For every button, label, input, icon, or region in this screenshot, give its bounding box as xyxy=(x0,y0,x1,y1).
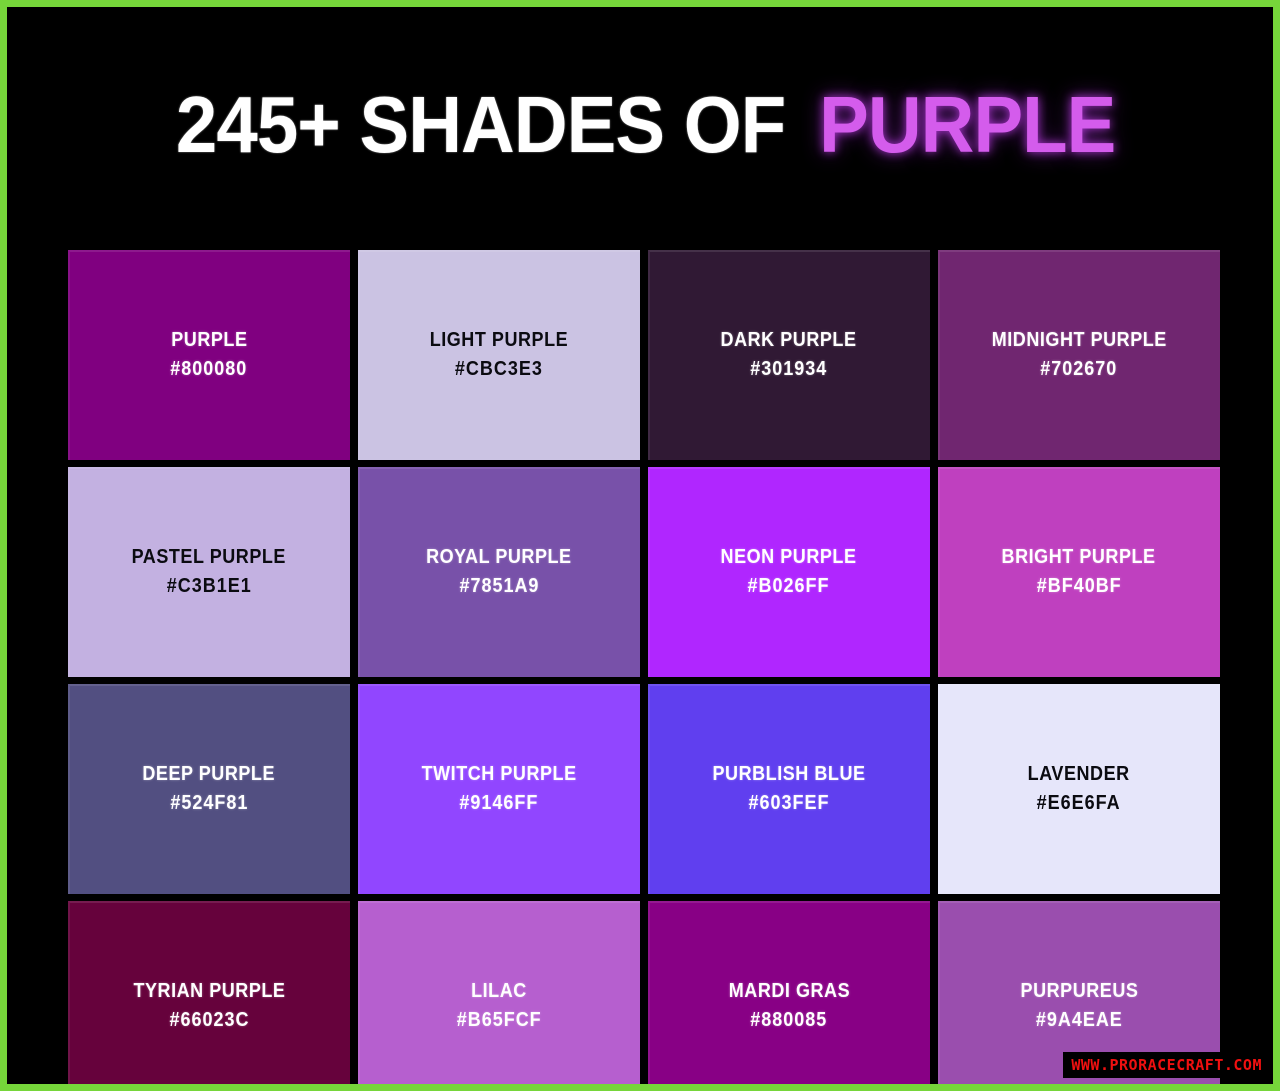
watermark: WWW.PRORACECRAFT.COM xyxy=(1063,1052,1268,1078)
poster-canvas: 245+ SHADES OF PURPLE PURPLE#800080LIGHT… xyxy=(7,7,1273,1084)
swatch-name: DEEP PURPLE xyxy=(143,760,276,789)
swatch-hex-code: #BF40BF xyxy=(1037,572,1122,601)
swatch-name: PURPUREUS xyxy=(1020,977,1138,1006)
page-title: 245+ SHADES OF PURPLE xyxy=(7,73,1273,183)
color-swatch[interactable]: TYRIAN PURPLE#66023C xyxy=(68,901,350,1084)
color-swatch[interactable]: PASTEL PURPLE#C3B1E1 xyxy=(68,467,350,677)
color-swatch[interactable]: NEON PURPLE#B026FF xyxy=(648,467,930,677)
swatch-name: ROYAL PURPLE xyxy=(426,543,572,572)
color-swatch[interactable]: TWITCH PURPLE#9146FF xyxy=(358,684,640,894)
color-swatch[interactable]: MARDI GRAS#880085 xyxy=(648,901,930,1084)
swatch-hex-code: #B026FF xyxy=(748,572,830,601)
color-swatch[interactable]: DEEP PURPLE#524F81 xyxy=(68,684,350,894)
swatch-name: LIGHT PURPLE xyxy=(430,326,568,355)
swatch-name: TWITCH PURPLE xyxy=(421,760,576,789)
color-swatch[interactable]: LILAC#B65FCF xyxy=(358,901,640,1084)
color-swatch[interactable]: BRIGHT PURPLE#BF40BF xyxy=(938,467,1220,677)
color-swatch[interactable]: PURPLE#800080 xyxy=(68,250,350,460)
swatch-hex-code: #301934 xyxy=(750,355,827,384)
swatch-hex-code: #E6E6FA xyxy=(1037,789,1121,818)
swatch-hex-code: #702670 xyxy=(1040,355,1117,384)
swatch-name: TYRIAN PURPLE xyxy=(133,977,285,1006)
color-swatch[interactable]: PURBLISH BLUE#603FEF xyxy=(648,684,930,894)
swatch-hex-code: #9146FF xyxy=(460,789,539,818)
page-title-accent: PURPLE xyxy=(819,73,1115,177)
swatch-hex-code: #CBC3E3 xyxy=(455,355,543,384)
swatch-hex-code: #C3B1E1 xyxy=(167,572,252,601)
color-swatch-grid: PURPLE#800080LIGHT PURPLE#CBC3E3DARK PUR… xyxy=(68,250,1220,1084)
page-title-main: 245+ SHADES OF xyxy=(176,73,785,177)
color-swatch[interactable]: LIGHT PURPLE#CBC3E3 xyxy=(358,250,640,460)
swatch-hex-code: #800080 xyxy=(170,355,247,384)
swatch-name: LAVENDER xyxy=(1028,760,1130,789)
swatch-name: MIDNIGHT PURPLE xyxy=(991,326,1166,355)
swatch-name: DARK PURPLE xyxy=(721,326,857,355)
swatch-hex-code: #880085 xyxy=(750,1006,827,1035)
swatch-hex-code: #66023C xyxy=(169,1006,249,1035)
color-swatch[interactable]: DARK PURPLE#301934 xyxy=(648,250,930,460)
swatch-name: LILAC xyxy=(471,977,527,1006)
swatch-hex-code: #9A4EAE xyxy=(1036,1006,1123,1035)
swatch-hex-code: #524F81 xyxy=(170,789,248,818)
swatch-name: PURBLISH BLUE xyxy=(712,760,865,789)
swatch-hex-code: #603FEF xyxy=(749,789,830,818)
color-swatch[interactable]: LAVENDER#E6E6FA xyxy=(938,684,1220,894)
swatch-name: PURPLE xyxy=(171,326,247,355)
color-swatch[interactable]: MIDNIGHT PURPLE#702670 xyxy=(938,250,1220,460)
swatch-name: BRIGHT PURPLE xyxy=(1002,543,1156,572)
color-swatch[interactable]: ROYAL PURPLE#7851A9 xyxy=(358,467,640,677)
swatch-name: MARDI GRAS xyxy=(728,977,849,1006)
swatch-name: NEON PURPLE xyxy=(721,543,857,572)
swatch-hex-code: #7851A9 xyxy=(459,572,539,601)
swatch-hex-code: #B65FCF xyxy=(457,1006,542,1035)
swatch-name: PASTEL PURPLE xyxy=(132,543,286,572)
